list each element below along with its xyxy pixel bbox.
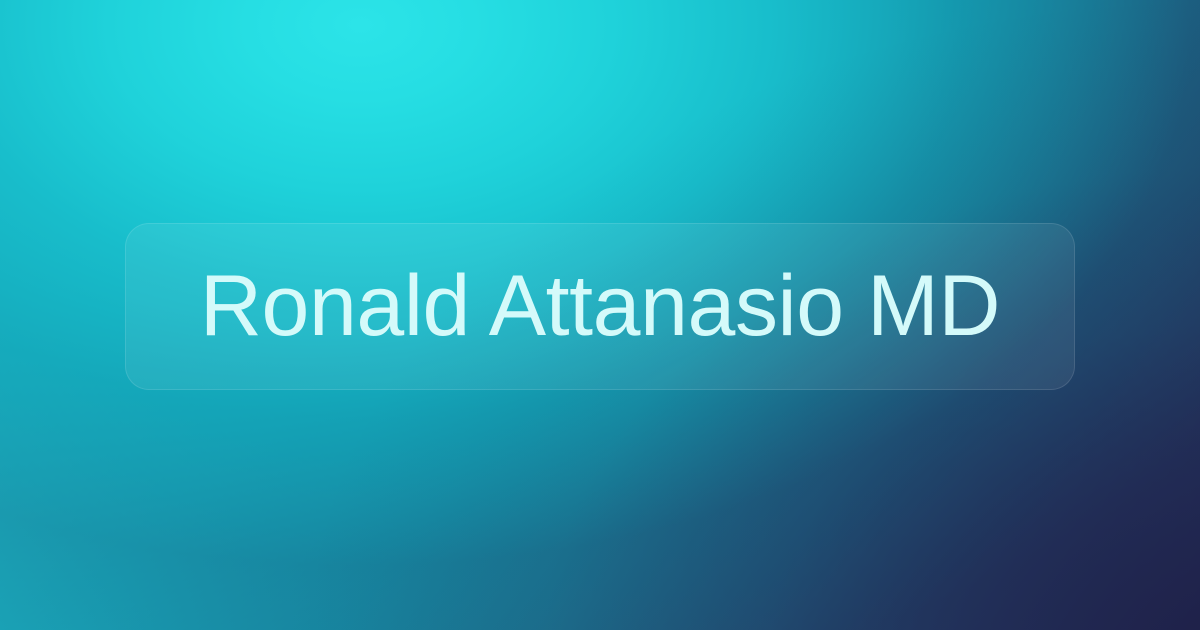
page-title: Ronald Attanasio MD: [200, 261, 1000, 351]
glass-title-card: Ronald Attanasio MD: [125, 223, 1075, 390]
og-canvas: Ronald Attanasio MD: [0, 0, 1200, 630]
card-center-wrapper: Ronald Attanasio MD: [0, 0, 1200, 630]
